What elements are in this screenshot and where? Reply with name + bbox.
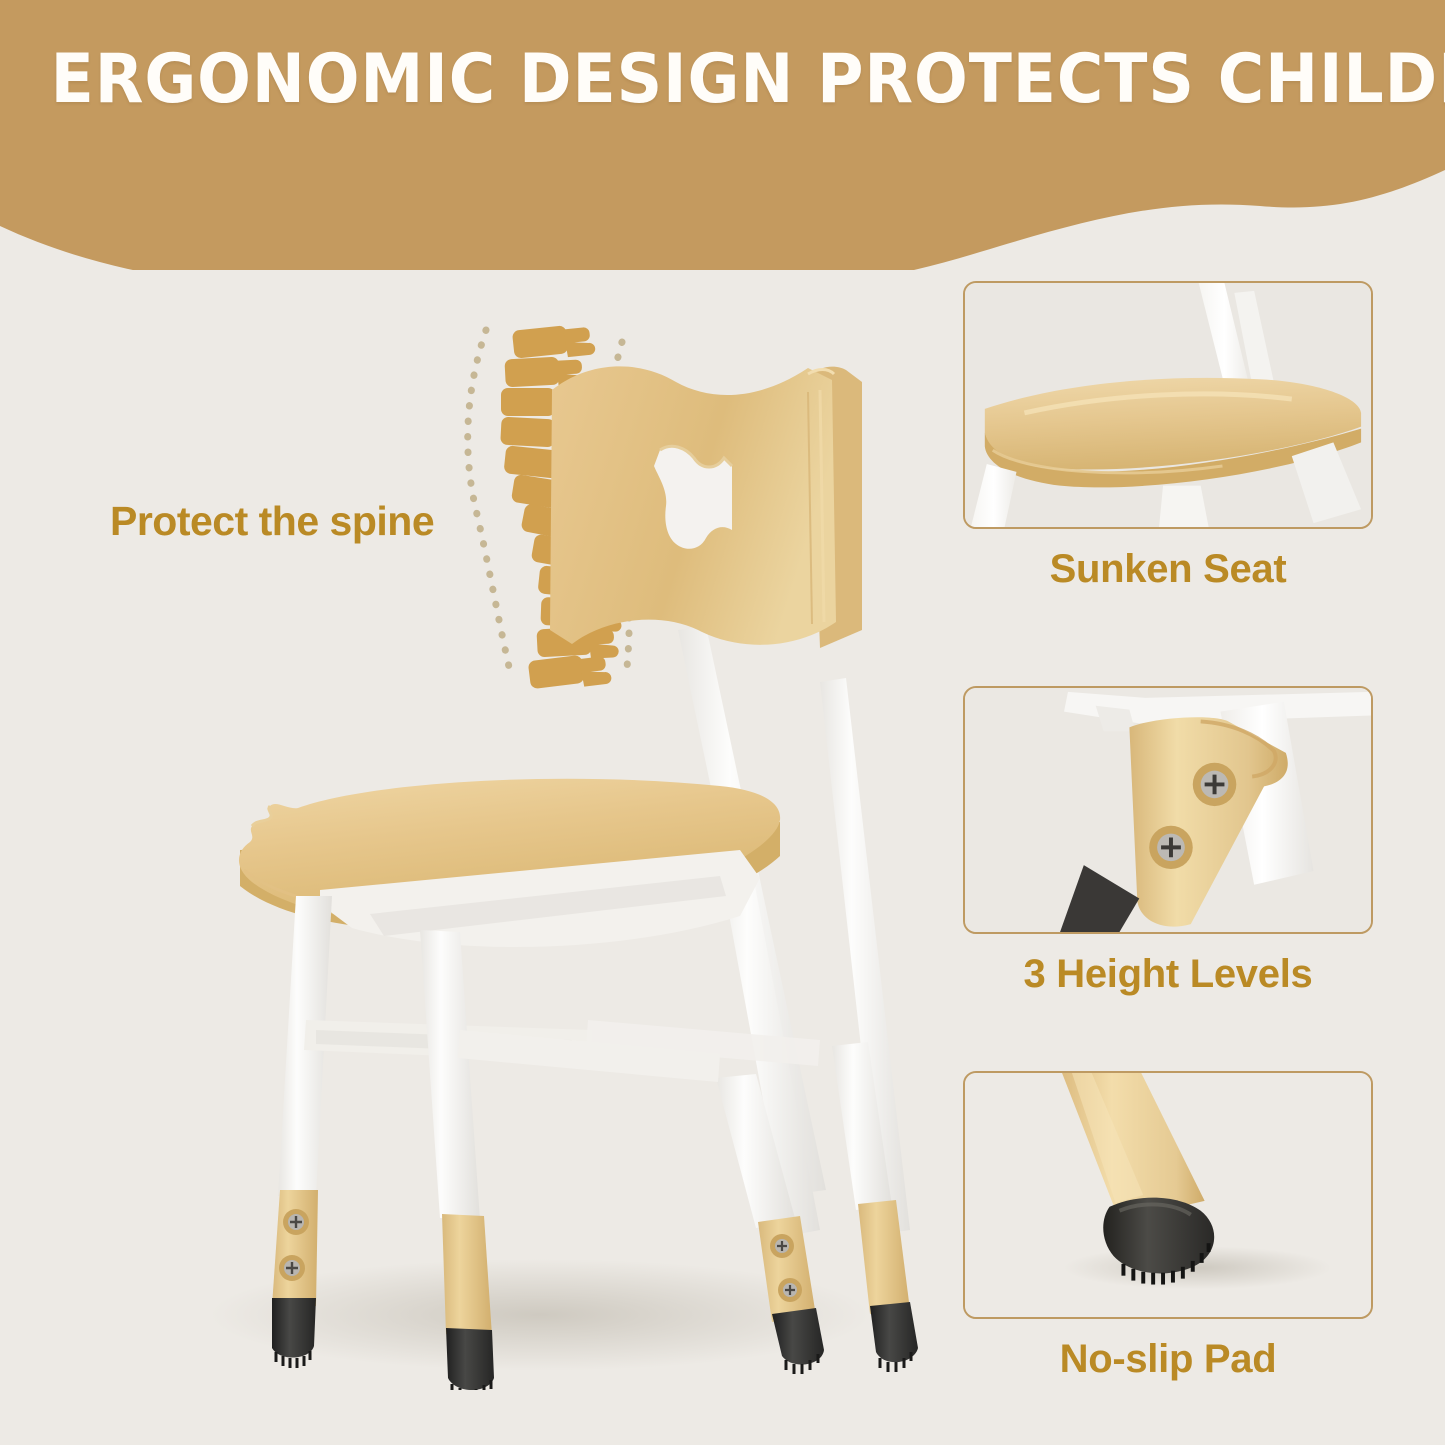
- kids-chair-product-image: [120, 330, 950, 1390]
- noslip-foot-pad-photo: [965, 1073, 1371, 1317]
- panel-caption-sunken-seat: Sunken Seat: [963, 547, 1373, 592]
- detail-panel-height-levels: [963, 686, 1373, 934]
- panel-caption-height-levels: 3 Height Levels: [963, 952, 1373, 997]
- panel-caption-noslip-pad: No-slip Pad: [963, 1337, 1373, 1382]
- detail-panel-sunken-seat: [963, 281, 1373, 529]
- detail-panel-noslip-pad: [963, 1071, 1373, 1319]
- sunken-seat-photo: [965, 283, 1371, 527]
- height-adjust-sleeve-photo: [965, 688, 1371, 932]
- page-title: ERGONOMIC DESIGN PROTECTS CHILDREN: [51, 46, 1395, 114]
- chair-backrest: [550, 366, 862, 648]
- header-banner: ERGONOMIC DESIGN PROTECTS CHILDREN: [0, 0, 1445, 270]
